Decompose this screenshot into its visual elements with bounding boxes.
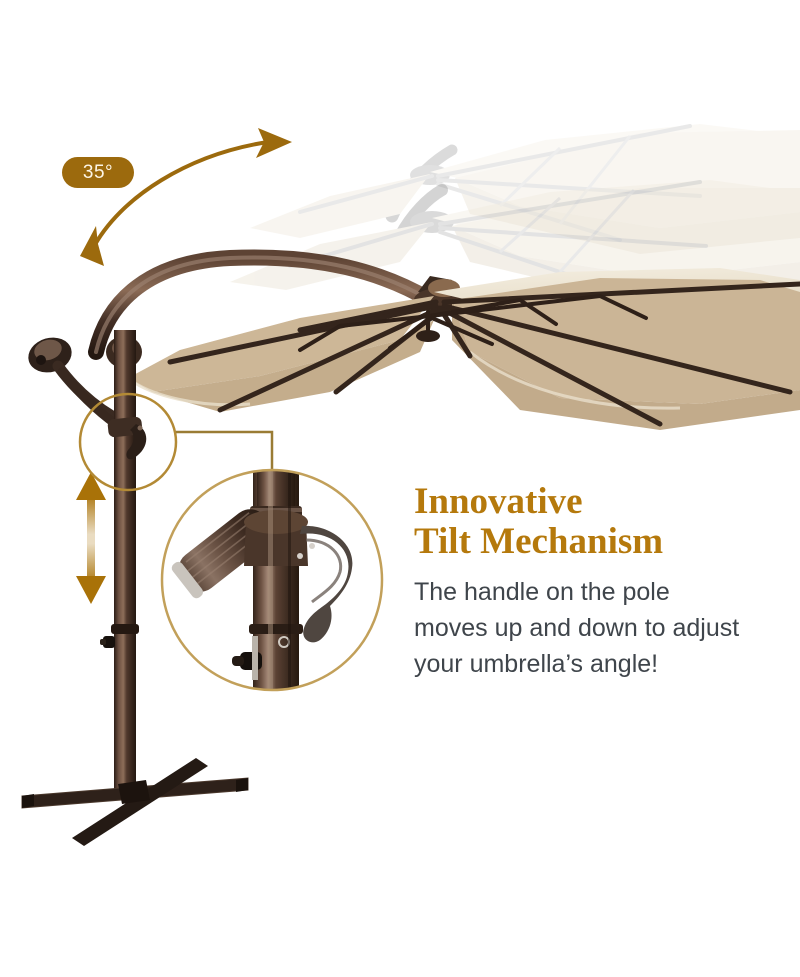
umbrella-pole (114, 330, 136, 800)
feature-description: The handle on the pole moves up and down… (414, 574, 794, 682)
tilt-range-arc-arrow (80, 128, 292, 266)
pole-collar (111, 624, 139, 634)
page-title: Innovative Tilt Mechanism (414, 482, 794, 562)
product-feature-graphic: 35° Innovative Tilt Mechanism The handle… (0, 0, 800, 977)
detail-magnifier (162, 468, 382, 698)
body-line-2: moves up and down to adjust (414, 610, 794, 646)
body-line-3: your umbrella’s angle! (414, 646, 794, 682)
callout-connector-line (176, 432, 272, 472)
angle-badge: 35° (62, 157, 134, 188)
feature-copy-block: Innovative Tilt Mechanism The handle on … (414, 482, 794, 682)
pole-lock-knob (100, 636, 115, 648)
body-line-1: The handle on the pole (414, 574, 794, 610)
headline-line-2: Tilt Mechanism (414, 522, 794, 562)
headline-line-1: Innovative (414, 482, 794, 522)
handle-travel-arrow (76, 472, 106, 604)
